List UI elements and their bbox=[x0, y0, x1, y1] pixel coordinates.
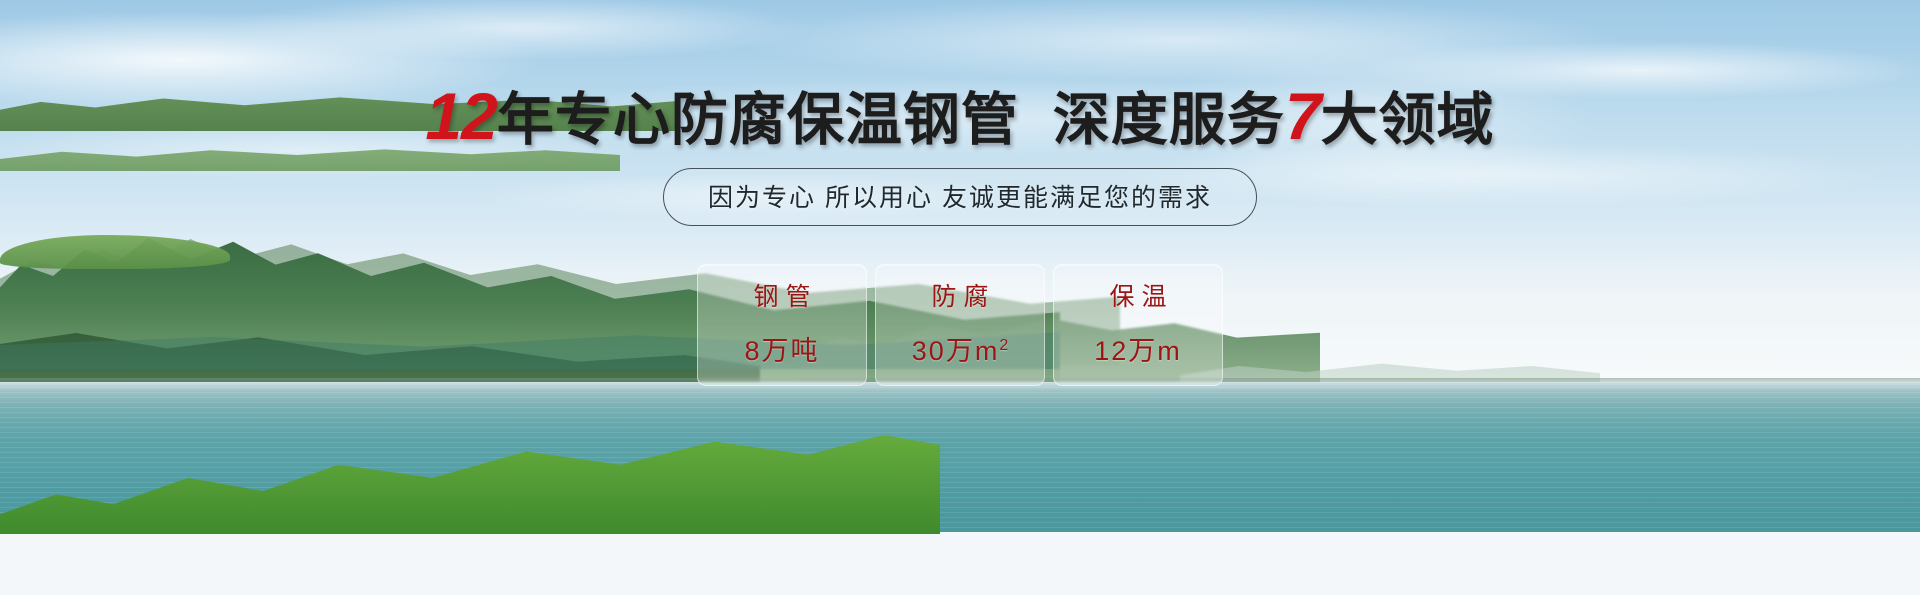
stat-card-value: 12万m bbox=[1054, 329, 1222, 368]
stat-cards: 钢管 8万吨 防腐 30万m2 保温 12万m bbox=[0, 264, 1920, 386]
subtitle-pill: 因为专心 所以用心 友诚更能满足您的需求 bbox=[663, 168, 1257, 226]
promo-banner: 12年专心防腐保温钢管深度服务7大领域 因为专心 所以用心 友诚更能满足您的需求… bbox=[0, 0, 1920, 595]
headline-text-part2: 深度服务 bbox=[1053, 88, 1285, 152]
stat-card-label: 防腐 bbox=[876, 277, 1044, 313]
stat-card-steel-pipe: 钢管 8万吨 bbox=[697, 264, 867, 386]
headline-accent-years: 12 bbox=[425, 79, 496, 153]
headline-accent-fields: 7 bbox=[1285, 79, 1321, 153]
stat-card-label: 保温 bbox=[1054, 277, 1222, 313]
banner-content: 12年专心防腐保温钢管深度服务7大领域 因为专心 所以用心 友诚更能满足您的需求… bbox=[0, 0, 1920, 595]
headline-text-part3: 大领域 bbox=[1321, 88, 1495, 152]
stat-card-anticorrosion: 防腐 30万m2 bbox=[875, 264, 1045, 386]
stat-card-value-text: 30万m bbox=[912, 336, 1000, 366]
stat-card-label: 钢管 bbox=[698, 277, 866, 313]
stat-card-insulation: 保温 12万m bbox=[1053, 264, 1223, 386]
stat-card-value-exponent: 2 bbox=[999, 337, 1008, 354]
subtitle-container: 因为专心 所以用心 友诚更能满足您的需求 bbox=[0, 168, 1920, 226]
stat-card-value-text: 12万m bbox=[1094, 336, 1182, 366]
headline: 12年专心防腐保温钢管深度服务7大领域 bbox=[0, 82, 1920, 151]
stat-card-value-text: 8万吨 bbox=[744, 336, 819, 366]
stat-card-value: 8万吨 bbox=[698, 329, 866, 368]
stat-card-value: 30万m2 bbox=[876, 329, 1044, 368]
headline-text-part1: 年专心防腐保温钢管 bbox=[497, 88, 1019, 152]
